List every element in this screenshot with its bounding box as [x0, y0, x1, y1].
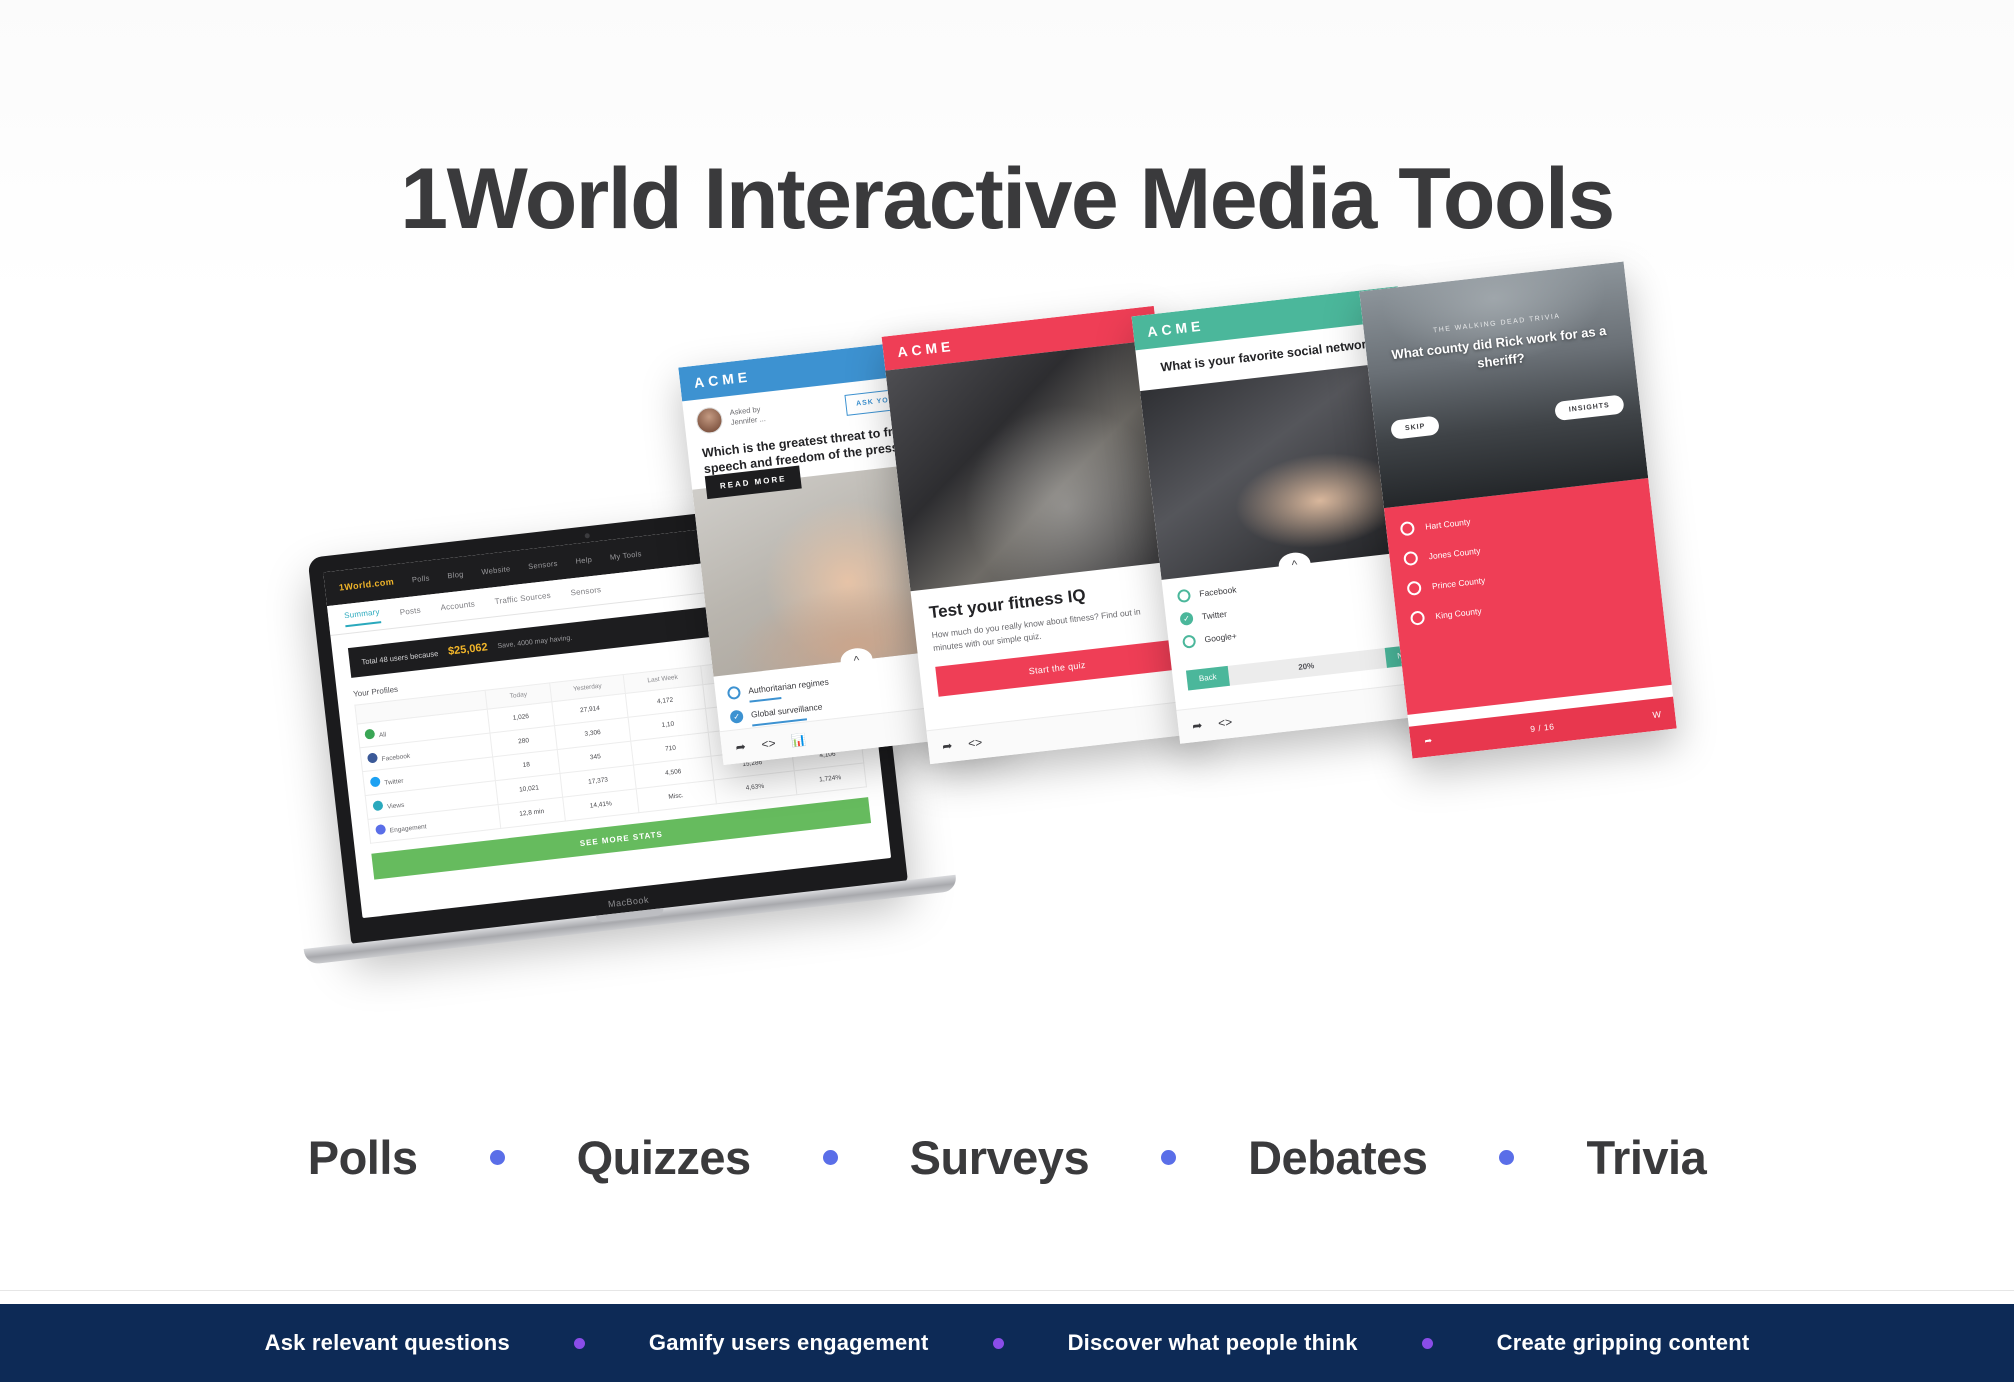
- radio-icon[interactable]: [1177, 589, 1191, 603]
- poll-option-bar: [749, 697, 781, 703]
- banner-text: Total 48 users because: [361, 648, 439, 666]
- dashboard-brand: 1World.com: [338, 576, 394, 592]
- banner-amount: $25,062: [447, 641, 488, 657]
- footer-item-discover: Discover what people think: [1068, 1330, 1358, 1356]
- avatar: [695, 406, 724, 435]
- radio-icon[interactable]: [1410, 610, 1425, 625]
- section-divider: [0, 1290, 2014, 1291]
- radio-icon[interactable]: [1403, 551, 1418, 566]
- trivia-card: THE WALKING DEAD TRIVIA What county did …: [1359, 261, 1676, 758]
- hero-section: 1World Interactive Media Tools: [0, 0, 2014, 300]
- separator-dot-icon: [993, 1338, 1004, 1349]
- trivia-option-label: Prince County: [1432, 575, 1486, 591]
- category-debates[interactable]: Debates: [1248, 1130, 1427, 1185]
- radio-icon[interactable]: [1406, 581, 1421, 596]
- banner-subtext: Save, 4000 may having.: [497, 634, 572, 649]
- trivia-option-label: Hart County: [1425, 516, 1471, 531]
- twitter-icon: [370, 776, 381, 787]
- dashboard-nav-sensors[interactable]: Sensors: [528, 558, 558, 570]
- back-button[interactable]: Back: [1186, 666, 1230, 691]
- dashboard-nav-help[interactable]: Help: [575, 554, 593, 565]
- tab-traffic-sources[interactable]: Traffic Sources: [494, 591, 551, 606]
- share-icon[interactable]: ➦: [941, 738, 953, 753]
- separator-dot-icon: [490, 1150, 505, 1165]
- chevron-up-icon[interactable]: ^: [1277, 551, 1312, 578]
- oneworld-logo-icon: W: [1652, 709, 1662, 720]
- tab-sensors[interactable]: Sensors: [570, 585, 602, 597]
- dashboard-nav-website[interactable]: Website: [481, 564, 511, 576]
- footer-bar: Ask relevant questions Gamify users enga…: [0, 1304, 2014, 1382]
- quiz-brand: ACME: [896, 338, 955, 360]
- tab-accounts[interactable]: Accounts: [440, 599, 475, 612]
- trivia-option-label: King County: [1435, 606, 1482, 621]
- results-chart-icon[interactable]: 📊: [791, 732, 807, 748]
- page-root: 1World Interactive Media Tools 1World.co…: [0, 0, 2014, 1382]
- footer-item-create: Create gripping content: [1497, 1330, 1750, 1356]
- page-title: 1World Interactive Media Tools: [0, 150, 2014, 249]
- trivia-options: Hart County Jones County Prince County K…: [1384, 478, 1672, 715]
- trivia-option-label: Jones County: [1428, 546, 1481, 562]
- radio-icon[interactable]: [1182, 634, 1196, 648]
- radio-icon[interactable]: [1400, 521, 1415, 536]
- question-counter: 9 / 16: [1530, 721, 1555, 734]
- separator-dot-icon: [1499, 1150, 1514, 1165]
- embed-code-icon[interactable]: <>: [967, 735, 983, 750]
- webcam-icon: [584, 533, 590, 539]
- category-trivia[interactable]: Trivia: [1586, 1130, 1706, 1185]
- radio-icon[interactable]: [727, 685, 741, 699]
- survey-option-label: Google+: [1204, 631, 1237, 645]
- footer-item-gamify: Gamify users engagement: [649, 1330, 929, 1356]
- trivia-photo: THE WALKING DEAD TRIVIA What county did …: [1359, 261, 1648, 508]
- radio-selected-icon[interactable]: ✓: [1179, 611, 1193, 625]
- survey-option-label: Facebook: [1199, 585, 1237, 599]
- eye-icon: [372, 800, 383, 811]
- tab-summary[interactable]: Summary: [344, 607, 381, 627]
- separator-dot-icon: [1161, 1150, 1176, 1165]
- separator-dot-icon: [1422, 1338, 1433, 1349]
- embed-code-icon[interactable]: <>: [1217, 714, 1233, 729]
- skip-button[interactable]: SKIP: [1390, 415, 1440, 439]
- share-icon[interactable]: ➦: [735, 739, 747, 754]
- share-icon[interactable]: ➦: [1424, 735, 1433, 747]
- survey-brand: ACME: [1146, 317, 1205, 339]
- dashboard-nav-blog[interactable]: Blog: [447, 569, 464, 580]
- footer-item-ask: Ask relevant questions: [265, 1330, 510, 1356]
- dashboard-nav-polls[interactable]: Polls: [411, 573, 430, 584]
- radio-selected-icon[interactable]: ✓: [729, 709, 743, 723]
- category-surveys[interactable]: Surveys: [910, 1130, 1089, 1185]
- dashboard-nav-mytools[interactable]: My Tools: [609, 549, 642, 562]
- poll-author-text: Asked by Jennifer ...: [729, 404, 766, 428]
- quiz-card-footer: ➦ <>: [926, 699, 1202, 764]
- separator-dot-icon: [823, 1150, 838, 1165]
- categories-row: Polls Quizzes Surveys Debates Trivia: [0, 1075, 2014, 1240]
- trivia-question: What county did Rick work for as a sheri…: [1366, 319, 1634, 384]
- separator-dot-icon: [574, 1338, 585, 1349]
- check-icon: [364, 729, 375, 740]
- survey-option-label: Twitter: [1201, 609, 1227, 622]
- chart-icon: [375, 824, 386, 835]
- tab-posts[interactable]: Posts: [399, 606, 421, 617]
- facebook-icon: [367, 753, 378, 764]
- device-showcase: 1World.com Polls Blog Website Sensors He…: [0, 290, 2014, 1000]
- category-polls[interactable]: Polls: [308, 1130, 418, 1185]
- progress-percent: 20%: [1298, 662, 1315, 673]
- share-icon[interactable]: ➦: [1191, 718, 1203, 733]
- embed-code-icon[interactable]: <>: [761, 736, 777, 751]
- category-quizzes[interactable]: Quizzes: [577, 1130, 751, 1185]
- insights-button[interactable]: INSIGHTS: [1554, 394, 1625, 421]
- poll-brand: ACME: [693, 368, 752, 390]
